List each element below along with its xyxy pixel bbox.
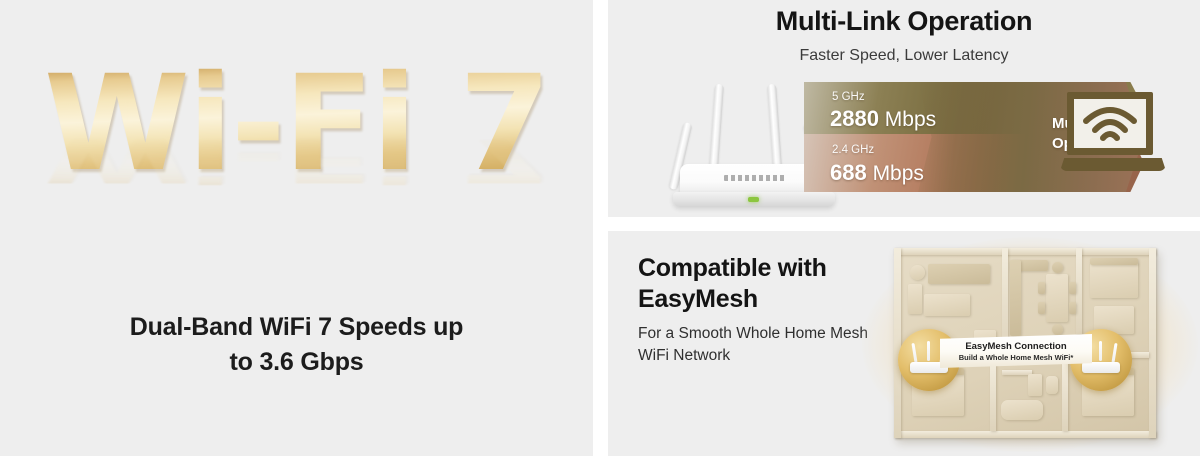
mini-antenna-1 [911,343,917,363]
home-floorplan-illustration: EasyMesh Connection Build a Whole Home M… [848,231,1200,456]
wall-right [1149,248,1156,438]
furniture-dining-chair-2 [1052,324,1063,335]
furniture-shower [1028,374,1042,396]
router-brand-logo [724,175,786,181]
furniture-lamp [910,265,925,280]
router-antenna-2 [709,84,724,168]
multilink-illustration: 5 GHz 2880 Mbps 2.4 GHz 688 Mbps Multi-L… [608,72,1200,217]
wall-interior-v4 [1062,362,1068,431]
furniture-sofa [928,264,990,284]
wall-interior-v3 [990,362,996,431]
easymesh-connection-ribbon: EasyMesh Connection Build a Whole Home M… [940,334,1092,368]
band-5ghz-speed-label: 2880 Mbps [830,106,936,132]
band-5ghz-frequency-label: 5 GHz [832,91,865,103]
furniture-toilet [1046,376,1058,394]
router-status-led [748,197,759,202]
mini-antenna-2 [927,341,930,361]
wifi7-logo-wrap: Wi-Fi 7 Wi-Fi 7 [0,58,593,258]
multilink-title: Multi-Link Operation [608,6,1200,37]
laptop-base [1060,158,1166,171]
router-antenna-3 [767,84,782,168]
furniture-dining-table [1046,274,1068,322]
furniture-bed-1 [1090,262,1138,298]
ribbon-title: EasyMesh Connection [965,341,1066,352]
ribbon-subtitle: Build a Whole Home Mesh WiFi* [959,353,1074,362]
furniture-headboard-1 [1090,258,1138,265]
furniture-coffee-table [924,294,970,316]
product-feature-collage: Wi-Fi 7 Wi-Fi 7 Dual-Band WiFi 7 Speeds … [0,0,1200,456]
band-2p4ghz-speed-label: 688 Mbps [830,160,924,186]
wifi7-caption: Dual-Band WiFi 7 Speeds up to 3.6 Gbps [0,310,593,379]
wall-left [894,248,901,438]
band-2p4ghz-frequency-label: 2.4 GHz [832,144,874,156]
band-2p4ghz-speed-unit: Mbps [873,162,924,185]
wall-bottom [894,431,1156,438]
band-5ghz-speed-value: 2880 [830,106,879,131]
mini-antenna-2 [1099,341,1102,361]
easymesh-panel: Compatible with EasyMesh For a Smooth Wh… [608,231,1200,456]
wall-top [894,248,1156,255]
wifi-signal-icon [1082,105,1138,145]
furniture-dining-chair-4 [1038,302,1045,314]
wifi7-logo: Wi-Fi 7 [44,58,549,190]
wifi7-caption-line1: Dual-Band WiFi 7 Speeds up [0,310,593,345]
wifi7-hero-panel: Wi-Fi 7 Wi-Fi 7 Dual-Band WiFi 7 Speeds … [0,0,593,456]
wifi7-caption-line2: to 3.6 Gbps [0,345,593,380]
furniture-bathtub [1001,400,1043,420]
furniture-dining-chair-1 [1052,262,1063,273]
mini-router-body [1082,362,1120,373]
furniture-side-table [908,284,922,314]
wall-interior-v2 [1076,248,1082,334]
multilink-operation-panel: Multi-Link Operation Faster Speed, Lower… [608,0,1200,217]
furniture-dining-chair-3 [1038,282,1045,294]
band-2p4ghz-speed-value: 688 [830,160,867,185]
furniture-dining-chair-5 [1069,282,1076,294]
furniture-dining-chair-6 [1069,302,1076,314]
mini-antenna-3 [1111,343,1117,363]
furniture-counter-v [1010,260,1021,336]
multilink-subtitle: Faster Speed, Lower Latency [608,47,1200,65]
laptop-wifi-icon [1060,92,1166,184]
band-5ghz-speed-unit: Mbps [885,108,936,131]
